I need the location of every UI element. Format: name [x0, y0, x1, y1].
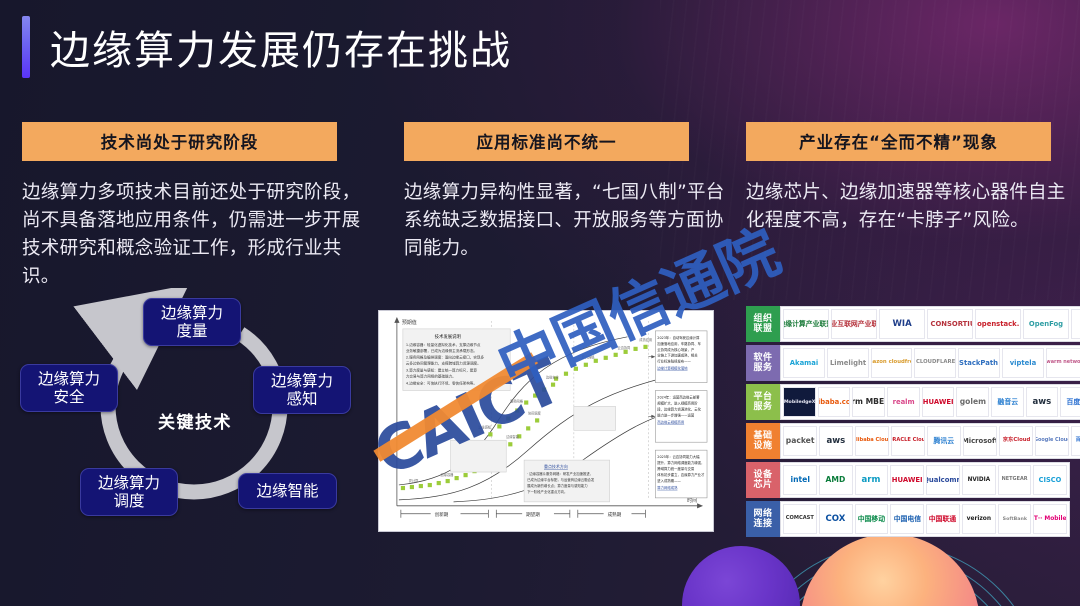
logo-item[interactable]: NETGEAR	[998, 465, 1032, 495]
logo-row-label-line1: 组织	[753, 314, 772, 324]
logo-item[interactable]: MobiledgeX	[783, 387, 816, 417]
cycle-node-scheduling[interactable]: 边缘算力 调度	[80, 468, 178, 516]
logo-item[interactable]: Google Cloud	[1035, 426, 1069, 456]
logo-row-label: 平台 服务	[746, 384, 780, 420]
logo-row-label-line1: 平台	[753, 392, 772, 402]
logo-row-label-line2: 联盟	[753, 324, 772, 334]
svg-text:商边缘云规模商用: 商边缘云规模商用	[657, 419, 684, 424]
logo-item[interactable]: aws	[819, 426, 853, 456]
logo-item[interactable]: CLOUDFLARE	[914, 348, 956, 378]
logo-item[interactable]: 融音云	[991, 387, 1024, 417]
logo-item[interactable]: intel	[783, 465, 817, 495]
logo-item[interactable]: Alibaba Cloud	[855, 426, 889, 456]
svg-text:算力网络成熟: 算力网络成熟	[657, 485, 678, 490]
logo-item[interactable]: verizon	[962, 504, 996, 534]
logo-row-software: 软件 服务 Akamai Limelight amazon cloudfront…	[746, 345, 1070, 381]
logo-item[interactable]: Limelight	[827, 348, 869, 378]
logo-row-cells: COMCAST COX 中国移动 中国电信 中国联通 verizon SoftB…	[780, 501, 1070, 537]
logo-item[interactable]: SoftBank	[998, 504, 1032, 534]
logo-row-chips: 设备 芯片 intel AMD arm HUAWEI Qualcomm NVID…	[746, 462, 1070, 498]
logo-row-label: 设备 芯片	[746, 462, 780, 498]
logo-item[interactable]: arm	[855, 465, 889, 495]
logo-item[interactable]: WIA	[879, 309, 925, 339]
svg-text:云协同成为核心场景，产: 云协同成为核心场景，产	[657, 347, 695, 352]
cycle-center-label: 关键技术	[136, 408, 254, 433]
svg-text:3.算力度量与感知：建立统一算力标尺，是算: 3.算力度量与感知：建立统一算力标尺，是算	[406, 368, 478, 373]
page-title: 边缘算力发展仍存在挑战	[50, 18, 512, 76]
logo-item[interactable]: Microsoft	[963, 426, 997, 456]
logo-item[interactable]: CISCO	[1033, 465, 1067, 495]
logo-row-label-line1: 网络	[753, 509, 772, 519]
logo-row-cells: packet aws Alibaba Cloud ORACLE Cloud 腾讯…	[780, 423, 1080, 459]
maturity-curve-svg: 预期值 时间 创新期 期望期 成熟期	[379, 311, 713, 532]
logo-item[interactable]: 中国移动	[855, 504, 889, 534]
logo-row-label-line2: 芯片	[753, 480, 772, 490]
logo-item[interactable]: amazon cloudfront	[871, 348, 913, 378]
logo-item[interactable]: AMD	[819, 465, 853, 495]
svg-text:创新期: 创新期	[435, 511, 449, 518]
logo-row-label-line1: 设备	[753, 470, 772, 480]
svg-text:能力进一步增强——运营: 能力进一步增强——运营	[657, 412, 695, 417]
logo-item[interactable]: Qualcomm	[926, 465, 960, 495]
svg-text:跨域算力统一度量与交易: 跨域算力统一度量与交易	[657, 466, 694, 471]
logo-row-platform: 平台 服务 MobiledgeX Alibaba.com arm MBED re…	[746, 384, 1070, 420]
logo-item[interactable]: COMCAST	[783, 504, 817, 534]
svg-text:期望期: 期望期	[526, 511, 540, 518]
svg-text:行业标准陆续发布——: 行业标准陆续发布——	[657, 359, 691, 364]
svg-text:业务敏捷部署，已成为边缘侧主流承载形态。: 业务敏捷部署，已成为边缘侧主流承载形态。	[406, 348, 477, 353]
logo-row-cells: 边缘计算产业联盟 工业互联网产业联盟 WIA AII CONSORTIUM op…	[780, 306, 1080, 342]
logo-item[interactable]: 百度云	[1060, 387, 1080, 417]
logo-row-network: 网络 连接 COMCAST COX 中国移动 中国电信 中国联通 verizon…	[746, 501, 1070, 537]
svg-text:提升，算力网络调度能力增强，: 提升，算力网络调度能力增强，	[657, 460, 704, 465]
logo-item[interactable]: 工业互联网产业联盟	[831, 309, 877, 339]
logo-item[interactable]: AII CONSORTIUM	[927, 309, 973, 339]
logo-item[interactable]: swarm networks	[1046, 348, 1080, 378]
column-industry: 产业存在“全而不精”现象 边缘芯片、边缘加速器等核心器件自主化程度不高，存在“卡…	[746, 122, 1068, 235]
edge-industry-logo-grid: 组织 联盟 边缘计算产业联盟 工业互联网产业联盟 WIA AII CONSORT…	[746, 306, 1070, 537]
svg-text:2023年：自动驾驶边缘计算: 2023年：自动驾驶边缘计算	[657, 335, 700, 340]
logo-row-label-line1: 软件	[753, 353, 772, 363]
logo-item[interactable]: 中国联通	[926, 504, 960, 534]
logo-row-label-line1: 基础	[753, 431, 772, 441]
column-3-body: 边缘芯片、边缘加速器等核心器件自主化程度不高，存在“卡脖子”风险。	[746, 179, 1068, 235]
svg-text:预期值: 预期值	[402, 319, 417, 326]
column-2-body: 边缘算力异构性显著，“七国八制”平台系统缺乏数据接口、开放服务等方面协同能力。	[404, 179, 734, 263]
logo-item[interactable]: rmQ	[1071, 309, 1080, 339]
svg-text:算力网络: 算力网络	[582, 355, 596, 360]
svg-text:展成为新的增长点；算力度量与感知能力: 展成为新的增长点；算力度量与感知能力	[527, 483, 588, 488]
svg-text:技术发展说明: 技术发展说明	[435, 333, 462, 340]
logo-row-cells: MobiledgeX Alibaba.com arm MBED realm HU…	[780, 384, 1080, 420]
svg-text:2024年：运营商边缘云部署: 2024年：运营商边缘云部署	[657, 394, 700, 399]
logo-row-label-line2: 设施	[753, 441, 772, 451]
svg-text:1.边缘容器：轻量化虚拟化技术，支撑边缘节点: 1.边缘容器：轻量化虚拟化技术，支撑边缘节点	[406, 342, 481, 347]
slide-header: 边缘算力发展仍存在挑战	[22, 16, 512, 78]
svg-text:边缘智能: 边缘智能	[506, 434, 520, 439]
logo-row-label: 网络 连接	[746, 501, 780, 537]
cycle-node-measurement[interactable]: 边缘算力 度量	[143, 298, 241, 346]
logo-item[interactable]: StackPath	[958, 348, 1000, 378]
svg-text:边缘感知: 边缘感知	[478, 424, 491, 429]
logo-row-label-line2: 服务	[753, 402, 772, 412]
logo-row-cells: Akamai Limelight amazon cloudfront CLOUD…	[780, 345, 1080, 381]
logo-row-label-line2: 连接	[753, 519, 772, 529]
svg-text:下一阶段产业化重点方向。: 下一阶段产业化重点方向。	[527, 489, 567, 494]
logo-item[interactable]: packet	[783, 426, 817, 456]
svg-text:协同调度: 协同调度	[528, 410, 542, 415]
logo-item[interactable]: openstack.	[975, 309, 1021, 339]
cycle-node-sensing[interactable]: 边缘算力 感知	[253, 366, 351, 414]
logo-item[interactable]: 京东Cloud	[999, 426, 1033, 456]
svg-text:重点技术方向: 重点技术方向	[544, 464, 568, 469]
logo-row-label-line2: 服务	[753, 363, 772, 373]
logo-item[interactable]: 边缘计算产业联盟	[783, 309, 829, 339]
svg-text:进入成熟期——: 进入成熟期——	[657, 478, 681, 483]
logo-row-infrastructure: 基础 设施 packet aws Alibaba Cloud ORACLE Cl…	[746, 423, 1070, 459]
svg-text:4.边缘安全：可信执行环境、零信任架构等。: 4.边缘安全：可信执行环境、零信任架构等。	[406, 381, 477, 386]
svg-text:力交易与算力网络的基础能力。: 力交易与算力网络的基础能力。	[406, 374, 456, 379]
svg-text:2025年：云边协同能力大幅: 2025年：云边协同能力大幅	[657, 454, 700, 459]
svg-text:云边协同: 云边协同	[618, 345, 631, 350]
cycle-node-intelligence[interactable]: 边缘智能	[238, 473, 337, 509]
svg-text:段，边缘算力资源池化、云化: 段，边缘算力资源池化、云化	[657, 406, 701, 411]
column-1-tag: 技术尚处于研究阶段	[22, 122, 337, 161]
svg-text:云多边协同管理能力，支撑跨域算力资源调度。: 云多边协同管理能力，支撑跨域算力资源调度。	[406, 361, 481, 366]
key-technology-cycle-diagram: 边缘算力 度量 边缘算力 感知 边缘智能 边缘算力 调度 边缘算力 安全 关键技…	[20, 288, 376, 550]
logo-item[interactable]: T·· Mobile	[1033, 504, 1067, 534]
column-3-tag: 产业存在“全而不精”现象	[746, 122, 1051, 161]
logo-item[interactable]: 腾讯云	[927, 426, 961, 456]
logo-item[interactable]: arm MBED	[852, 387, 885, 417]
column-standards: 应用标准尚不统一 边缘算力异构性显著，“七国八制”平台系统缺乏数据接口、开放服务…	[404, 122, 734, 263]
svg-text:雾计算: 雾计算	[409, 478, 419, 483]
maturity-curve-chart: 预期值 时间 创新期 期望期 成熟期	[378, 310, 714, 532]
title-accent-bar	[22, 16, 30, 78]
logo-item[interactable]: HUAWEI	[890, 465, 924, 495]
logo-item[interactable]: viptela	[1002, 348, 1044, 378]
logo-item[interactable]: COX	[819, 504, 853, 534]
svg-text:服务网格: 服务网格	[510, 398, 524, 403]
cycle-node-security[interactable]: 边缘算力 安全	[20, 364, 118, 412]
logo-item[interactable]: NVIDIA	[962, 465, 996, 495]
svg-text:规模扩大，进入规模商用阶: 规模扩大，进入规模商用阶	[657, 400, 698, 405]
logo-item[interactable]: golem	[956, 387, 989, 417]
logo-row-label: 组织 联盟	[746, 306, 780, 342]
logo-item[interactable]: OpenFog	[1023, 309, 1069, 339]
logo-item[interactable]: HUAWEI	[922, 387, 955, 417]
logo-item[interactable]: 中国电信	[890, 504, 924, 534]
svg-text:2.服务网格及编排调度：面向边缘云接口，实现多: 2.服务网格及编排调度：面向边缘云接口，实现多	[406, 355, 485, 360]
logo-row-cells: intel AMD arm HUAWEI Qualcomm NVIDIA NET…	[780, 462, 1070, 498]
svg-text:已成为边缘平台标配，与运营商边缘云融合发: 已成为边缘平台标配，与运营商边缘云融合发	[527, 477, 595, 482]
logo-item[interactable]: realm	[887, 387, 920, 417]
svg-text:边缘容器: 边缘容器	[441, 472, 455, 477]
svg-text:成熟应用: 成熟应用	[639, 337, 652, 342]
svg-text:加速落地应用，车路协同、车: 加速落地应用，车路协同、车	[657, 341, 701, 346]
column-1-body: 边缘算力多项技术目前还处于研究阶段，尚不具备落地应用条件，仍需进一步开展技术研究…	[22, 179, 370, 291]
svg-text:边缘安全: 边缘安全	[546, 375, 560, 380]
logo-row-alliance: 组织 联盟 边缘计算产业联盟 工业互联网产业联盟 WIA AII CONSORT…	[746, 306, 1070, 342]
logo-item[interactable]: ORACLE Cloud	[891, 426, 925, 456]
logo-row-label: 软件 服务	[746, 345, 780, 381]
column-2-tag: 应用标准尚不统一	[404, 122, 689, 161]
logo-row-label: 基础 设施	[746, 423, 780, 459]
svg-text:成熟期: 成熟期	[608, 511, 622, 518]
svg-text:· 边缘容器＆服务网格：研发产业加速推进，: · 边缘容器＆服务网格：研发产业加速推进，	[527, 471, 593, 476]
logo-item[interactable]: 百度云OS	[1071, 426, 1080, 456]
logo-item[interactable]: Alibaba.com	[818, 387, 851, 417]
svg-text:业链上下游加速成熟，相关: 业链上下游加速成熟，相关	[657, 353, 698, 358]
logo-item[interactable]: Akamai	[783, 348, 825, 378]
column-technology: 技术尚处于研究阶段 边缘算力多项技术目前还处于研究阶段，尚不具备落地应用条件，仍…	[22, 122, 370, 291]
logo-item[interactable]: aws	[1026, 387, 1059, 417]
svg-text:边缘计算规模化落地: 边缘计算规模化落地	[657, 366, 688, 371]
svg-text:体系初步建立，边缘算力产业才: 体系初步建立，边缘算力产业才	[657, 472, 705, 477]
